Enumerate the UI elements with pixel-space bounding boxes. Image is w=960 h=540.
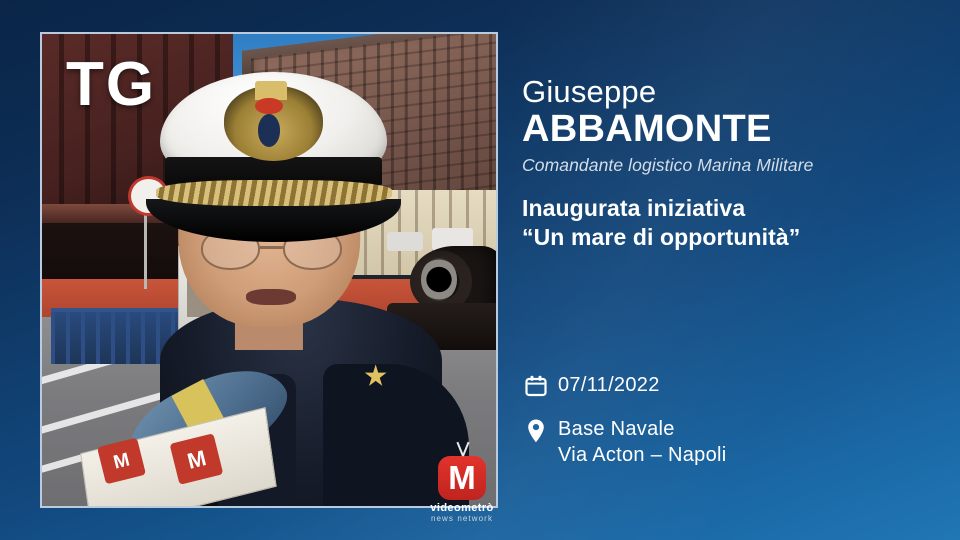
road-sign-pole xyxy=(144,204,147,289)
speaker-info-column: Giuseppe ABBAMONTE Comandante logistico … xyxy=(522,74,930,252)
speaker-role: Comandante logistico Marina Militare xyxy=(522,153,930,177)
location-line-1: Base Navale xyxy=(558,418,675,440)
eyeglasses-bridge xyxy=(260,246,283,249)
event-meta-column: 07/11/2022 Base Navale Via Acton – Napol… xyxy=(524,372,924,468)
lower-third-graphic: M M TG M videometrò news network Giusepp… xyxy=(0,0,960,540)
cap-badge-red-cushion xyxy=(255,98,282,115)
headline-line-1: Inaugurata iniziativa xyxy=(522,195,745,221)
tv-antenna-icon xyxy=(406,443,518,456)
cap-gold-braid xyxy=(156,180,392,206)
logo-wordmark: videometrò xyxy=(406,502,518,514)
event-date: 07/11/2022 xyxy=(558,372,660,398)
speaker-first-name: Giuseppe xyxy=(522,74,930,110)
calendar-icon xyxy=(524,372,558,398)
location-line-2: Via Acton – Napoli xyxy=(558,442,726,468)
headline-line-2: “Un mare di opportunità” xyxy=(522,224,800,250)
location-pin-icon xyxy=(524,416,558,444)
officer-mouth xyxy=(246,289,296,306)
blue-railing xyxy=(51,308,178,364)
logo-tagline: news network xyxy=(406,514,518,524)
date-row: 07/11/2022 xyxy=(524,372,924,398)
speaker-last-name: ABBAMONTE xyxy=(522,108,930,150)
event-location: Base Navale Via Acton – Napoli xyxy=(558,416,726,468)
parked-car xyxy=(387,232,423,251)
location-row: Base Navale Via Acton – Napoli xyxy=(524,416,924,468)
tg-channel-bug: TG xyxy=(66,54,156,116)
videometro-m-mark: M xyxy=(438,456,486,500)
headline: Inaugurata iniziativa “Un mare di opport… xyxy=(522,194,930,252)
video-panel[interactable]: M M TG xyxy=(40,32,498,508)
cannon-muzzle xyxy=(421,258,457,300)
videometro-logo[interactable]: M videometrò news network xyxy=(406,443,518,524)
